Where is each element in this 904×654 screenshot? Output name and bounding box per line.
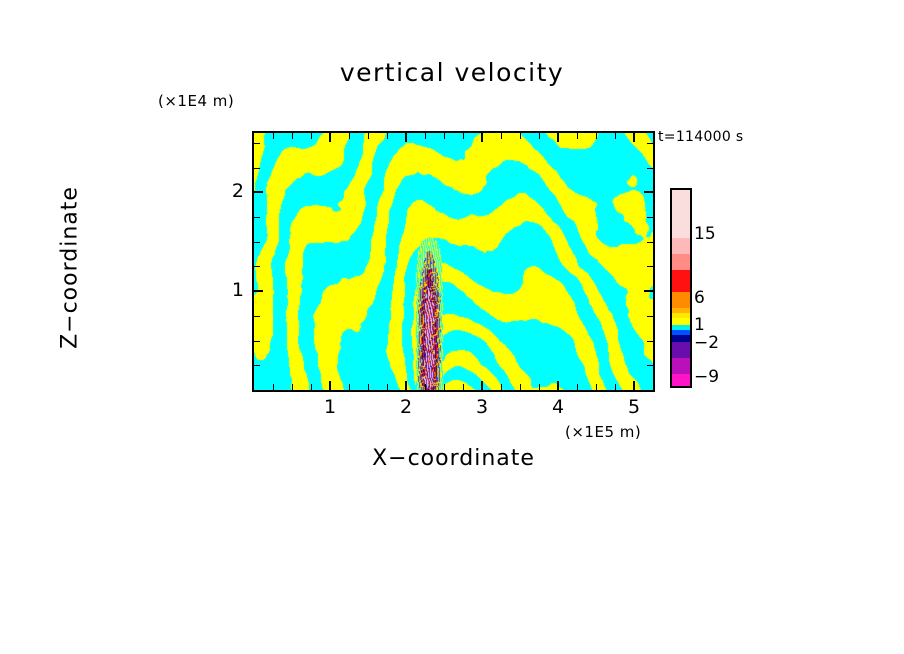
x-tick-bottom bbox=[520, 384, 521, 390]
y-axis-title: Z−coordinate bbox=[58, 138, 83, 398]
x-tick-bottom bbox=[349, 384, 350, 390]
colorbar-tick-label: −9 bbox=[694, 367, 719, 387]
x-tick-top bbox=[539, 133, 540, 139]
x-tick-top bbox=[444, 133, 445, 139]
x-tick-top bbox=[557, 133, 559, 142]
x-tick-bottom bbox=[577, 384, 578, 390]
x-tick-bottom bbox=[273, 384, 274, 390]
y-axis-unit-label: (×1E4 m) bbox=[158, 92, 234, 110]
y-tick-left bbox=[254, 365, 260, 366]
x-tick-top bbox=[273, 133, 274, 139]
y-tick-left bbox=[254, 191, 263, 193]
x-tick-top bbox=[463, 133, 464, 139]
x-tick-top bbox=[292, 133, 293, 139]
x-tick-bottom bbox=[425, 384, 426, 390]
x-tick-bottom bbox=[539, 384, 540, 390]
velocity-field-heatmap bbox=[254, 133, 653, 390]
colorbar-tick-label: 1 bbox=[694, 315, 705, 335]
x-tick-top bbox=[596, 133, 597, 139]
colorbar-band bbox=[672, 358, 690, 374]
x-tick-label: 5 bbox=[619, 396, 649, 418]
x-tick-top bbox=[615, 133, 616, 139]
colorbar-band bbox=[672, 292, 690, 308]
y-tick-right bbox=[644, 290, 653, 292]
x-tick-bottom bbox=[387, 384, 388, 390]
x-tick-bottom bbox=[481, 381, 483, 390]
y-tick-right bbox=[647, 168, 653, 169]
colorbar-tick-label: 6 bbox=[694, 288, 705, 308]
colorbar-tick-label: −2 bbox=[694, 333, 719, 353]
y-tick-right bbox=[644, 191, 653, 193]
x-tick-top bbox=[577, 133, 578, 139]
y-tick-left bbox=[254, 266, 260, 267]
y-tick-left bbox=[254, 168, 260, 169]
colorbar-band bbox=[672, 254, 690, 270]
x-tick-bottom bbox=[329, 381, 331, 390]
x-tick-bottom bbox=[501, 384, 502, 390]
x-tick-top bbox=[501, 133, 502, 139]
x-tick-label: 3 bbox=[467, 396, 497, 418]
colorbar-band bbox=[672, 342, 690, 358]
x-tick-bottom bbox=[444, 384, 445, 390]
x-tick-bottom bbox=[405, 381, 407, 390]
x-tick-bottom bbox=[463, 384, 464, 390]
y-tick-right bbox=[647, 217, 653, 218]
timestamp-annotation: t=114000 s bbox=[658, 129, 743, 145]
x-tick-bottom bbox=[615, 384, 616, 390]
y-tick-left bbox=[254, 217, 260, 218]
x-tick-top bbox=[633, 133, 635, 142]
x-tick-bottom bbox=[557, 381, 559, 390]
x-tick-bottom bbox=[368, 384, 369, 390]
x-tick-bottom bbox=[292, 384, 293, 390]
x-tick-top bbox=[368, 133, 369, 139]
x-axis-unit-label: (×1E5 m) bbox=[565, 423, 641, 441]
colorbar-band bbox=[672, 238, 690, 254]
contour-plot-area bbox=[252, 131, 655, 392]
x-tick-top bbox=[311, 133, 312, 139]
x-tick-bottom bbox=[633, 381, 635, 390]
colorbar-band bbox=[672, 270, 690, 292]
x-tick-top bbox=[349, 133, 350, 139]
y-tick-right bbox=[647, 341, 653, 342]
colorbar-band bbox=[672, 190, 690, 238]
x-tick-top bbox=[329, 133, 331, 142]
page-title: vertical velocity bbox=[0, 58, 904, 87]
x-tick-top bbox=[425, 133, 426, 139]
y-tick-right bbox=[647, 242, 653, 243]
colorbar-tick-label: 15 bbox=[694, 224, 716, 244]
y-tick-left bbox=[254, 290, 263, 292]
colorbar-band bbox=[672, 318, 690, 325]
y-tick-right bbox=[647, 365, 653, 366]
x-tick-top bbox=[520, 133, 521, 139]
x-tick-label: 2 bbox=[391, 396, 421, 418]
y-tick-label: 1 bbox=[214, 279, 244, 301]
y-tick-right bbox=[647, 266, 653, 267]
x-tick-label: 4 bbox=[543, 396, 573, 418]
colorbar-band bbox=[672, 374, 690, 386]
y-tick-left bbox=[254, 143, 260, 144]
y-tick-label: 2 bbox=[214, 180, 244, 202]
colorbar bbox=[670, 188, 692, 388]
colorbar-band bbox=[672, 335, 690, 342]
y-tick-left bbox=[254, 316, 260, 317]
y-tick-right bbox=[647, 316, 653, 317]
x-tick-bottom bbox=[311, 384, 312, 390]
y-tick-left bbox=[254, 341, 260, 342]
y-tick-right bbox=[647, 143, 653, 144]
x-tick-label: 1 bbox=[315, 396, 345, 418]
x-axis-title: X−coordinate bbox=[252, 446, 655, 471]
y-tick-left bbox=[254, 242, 260, 243]
x-tick-top bbox=[481, 133, 483, 142]
x-tick-top bbox=[387, 133, 388, 139]
x-tick-top bbox=[405, 133, 407, 142]
x-tick-bottom bbox=[596, 384, 597, 390]
